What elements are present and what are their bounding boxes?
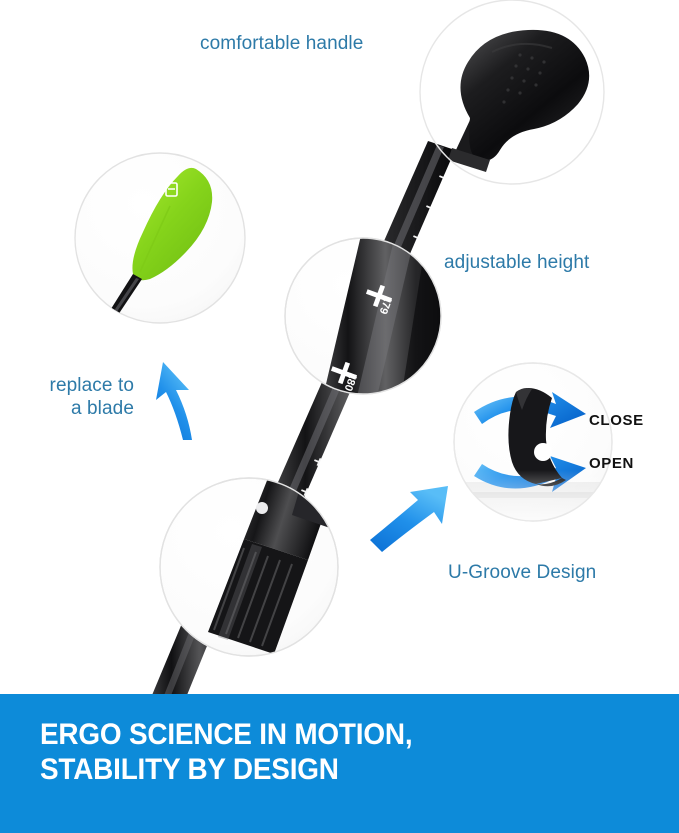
callout-adjustable-height: adjustable height — [444, 251, 589, 274]
close-label: CLOSE — [589, 412, 644, 429]
callout-u-groove-design: U-Groove Design — [448, 561, 596, 584]
callout-replace-to-a-blade: replace to a blade — [30, 374, 134, 420]
ugroove-detail-circle — [454, 363, 612, 532]
curved-arrow-up-icon — [156, 362, 192, 440]
lock-detail-circle — [160, 478, 340, 656]
product-artwork: 179 180 — [0, 0, 679, 700]
open-label: OPEN — [589, 455, 634, 472]
ergonomic-t-handle — [448, 30, 589, 172]
callout-comfortable-handle: comfortable handle — [200, 32, 363, 55]
height-detail-circle: 179 180 — [285, 214, 468, 418]
curved-arrow-up-right-icon — [370, 486, 448, 552]
blade-detail-circle — [75, 153, 245, 324]
product-infographic: 179 180 — [0, 0, 679, 833]
banner-headline: ERGO SCIENCE IN MOTION, STABILITY BY DES… — [40, 718, 412, 788]
